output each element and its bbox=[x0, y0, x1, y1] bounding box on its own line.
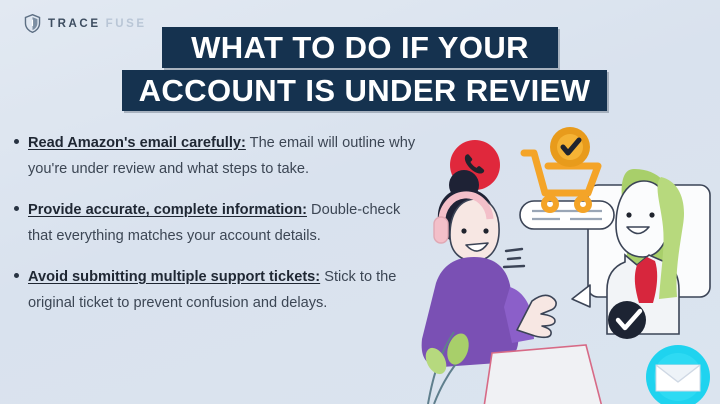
verified-check-icon bbox=[608, 301, 646, 339]
bullet-dot-icon bbox=[14, 206, 19, 211]
list-item: Provide accurate, complete information: … bbox=[14, 197, 424, 249]
list-item-lead: Read Amazon's email carefully: bbox=[28, 135, 246, 151]
customer-support-illustration bbox=[420, 105, 720, 404]
list-item-lead: Provide accurate, complete information: bbox=[28, 202, 307, 218]
list-item-text: Provide accurate, complete information: … bbox=[28, 197, 424, 249]
tips-list: Read Amazon's email carefully: The email… bbox=[14, 130, 424, 331]
chat-bubble-icon bbox=[520, 201, 614, 229]
shopping-cart-icon bbox=[524, 127, 598, 210]
infographic-canvas: TRACE FUSE WHAT TO DO IF YOUR ACCOUNT IS… bbox=[0, 0, 720, 404]
list-item-text: Read Amazon's email carefully: The email… bbox=[28, 130, 424, 182]
bullet-dot-icon bbox=[14, 139, 19, 144]
email-envelope-icon bbox=[646, 345, 710, 404]
shield-icon bbox=[24, 14, 41, 33]
list-item-lead: Avoid submitting multiple support ticket… bbox=[28, 269, 320, 285]
brand-logo[interactable]: TRACE FUSE bbox=[24, 14, 147, 33]
brand-name-secondary: FUSE bbox=[106, 18, 147, 30]
heading-line-1: WHAT TO DO IF YOUR bbox=[162, 27, 558, 68]
brand-name-primary: TRACE bbox=[48, 18, 101, 30]
check-badge-icon bbox=[550, 127, 590, 167]
brand-wordmark: TRACE FUSE bbox=[48, 18, 147, 30]
message-bubble-icon bbox=[572, 285, 590, 307]
list-item: Read Amazon's email carefully: The email… bbox=[14, 130, 424, 182]
bullet-dot-icon bbox=[14, 273, 19, 278]
list-item-text: Avoid submitting multiple support ticket… bbox=[28, 264, 424, 316]
motion-lines-icon bbox=[504, 249, 524, 267]
list-item: Avoid submitting multiple support ticket… bbox=[14, 264, 424, 316]
